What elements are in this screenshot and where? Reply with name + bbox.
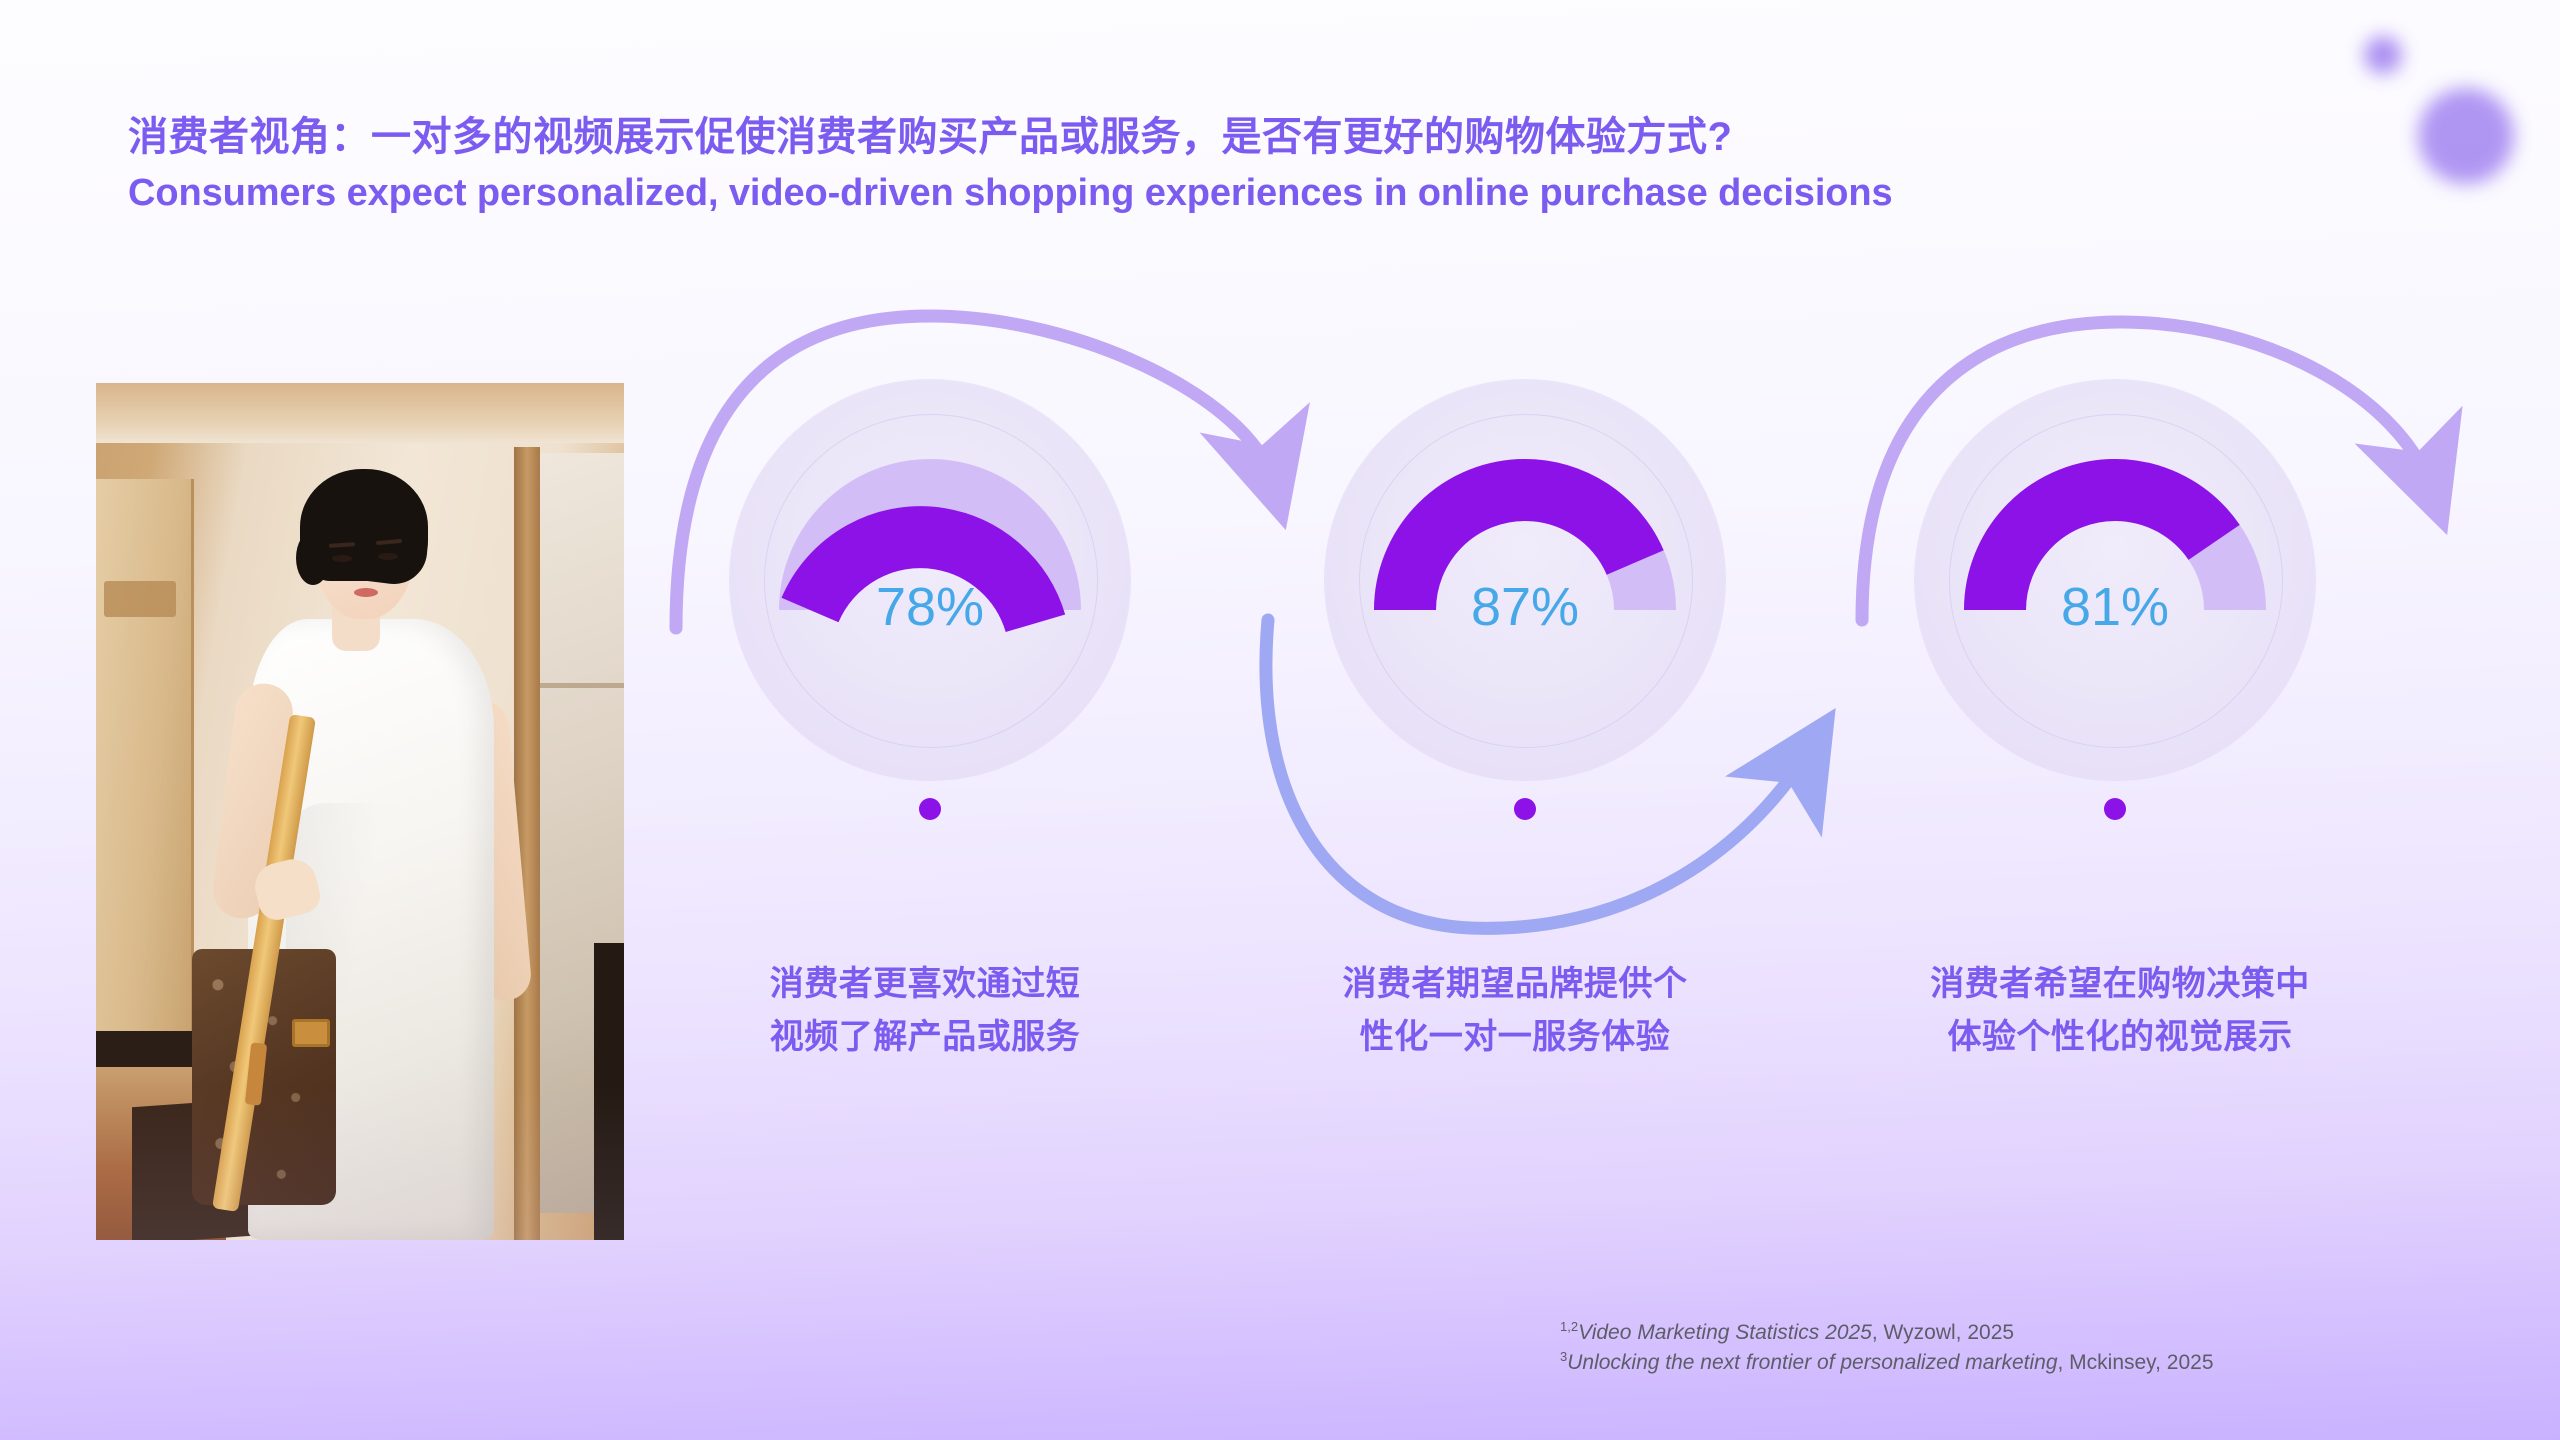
photo-handbag-buckle: [292, 1019, 330, 1047]
photo-ceiling: [96, 383, 624, 443]
gauge-row: 78% 87% 81%: [680, 320, 2480, 960]
source-citations: 1,2Video Marketing Statistics 2025, Wyzo…: [1560, 1318, 2214, 1378]
gauge-caption-3-line1: 消费者希望在购物决策中: [1870, 958, 2370, 1011]
decorative-bubble-small-icon: [2364, 36, 2402, 74]
citation-2-title: Unlocking the next frontier of personali…: [1567, 1351, 2057, 1374]
page-title-english: Consumers expect personalized, video-dri…: [128, 169, 2458, 218]
gauge-caption-1-line2: 视频了解产品或服务: [690, 1011, 1160, 1064]
photo-person-eye-left: [332, 555, 352, 562]
photo-left-panel: [104, 581, 176, 617]
photo-person-lips: [354, 588, 378, 597]
photo-person-eye-right: [378, 553, 398, 560]
citation-1-source: , Wyzowl, 2025: [1872, 1321, 2014, 1344]
slide-canvas: 消费者视角：一对多的视频展示促使消费者购买产品或服务，是否有更好的购物体验方式?…: [0, 0, 2560, 1440]
gauge-marker-dot-3: [2104, 798, 2126, 820]
consumer-photo: [96, 383, 624, 1240]
citation-2: 3Unlocking the next frontier of personal…: [1560, 1348, 2214, 1378]
gauge-value-3: 81%: [1895, 576, 2335, 638]
photo-right-shadow: [594, 943, 624, 1240]
gauge-caption-3-line2: 体验个性化的视觉展示: [1870, 1011, 2370, 1064]
citation-2-source: , Mckinsey, 2025: [2058, 1351, 2214, 1374]
citation-1-title: Video Marketing Statistics 2025: [1578, 1321, 1872, 1344]
photo-person-hair-bun: [296, 531, 330, 585]
gauge-caption-1-line1: 消费者更喜欢通过短: [690, 958, 1160, 1011]
citation-1: 1,2Video Marketing Statistics 2025, Wyzo…: [1560, 1318, 2214, 1348]
page-title-chinese: 消费者视角：一对多的视频展示促使消费者购买产品或服务，是否有更好的购物体验方式?: [128, 112, 2458, 163]
gauge-marker-dot-1: [919, 798, 941, 820]
photo-left-door: [96, 479, 194, 1039]
gauge-card-1: 78%: [710, 380, 1150, 880]
photo-content: [96, 383, 624, 1240]
gauge-caption-2-line2: 性化一对一服务体验: [1280, 1011, 1750, 1064]
gauge-value-2: 87%: [1305, 576, 1745, 638]
gauge-caption-1: 消费者更喜欢通过短 视频了解产品或服务: [690, 958, 1160, 1063]
slide-header: 消费者视角：一对多的视频展示促使消费者购买产品或服务，是否有更好的购物体验方式?…: [128, 112, 2458, 219]
citation-1-marker: 1,2: [1560, 1319, 1578, 1334]
gauge-card-3: 81%: [1895, 380, 2335, 880]
gauge-marker-dot-2: [1514, 798, 1536, 820]
gauge-caption-2: 消费者期望品牌提供个 性化一对一服务体验: [1280, 958, 1750, 1063]
gauge-caption-2-line1: 消费者期望品牌提供个: [1280, 958, 1750, 1011]
gauge-caption-3: 消费者希望在购物决策中 体验个性化的视觉展示: [1870, 958, 2370, 1063]
gauge-value-1: 78%: [710, 576, 1150, 638]
gauge-card-2: 87%: [1305, 380, 1745, 880]
photo-glass-mullion: [540, 683, 624, 688]
